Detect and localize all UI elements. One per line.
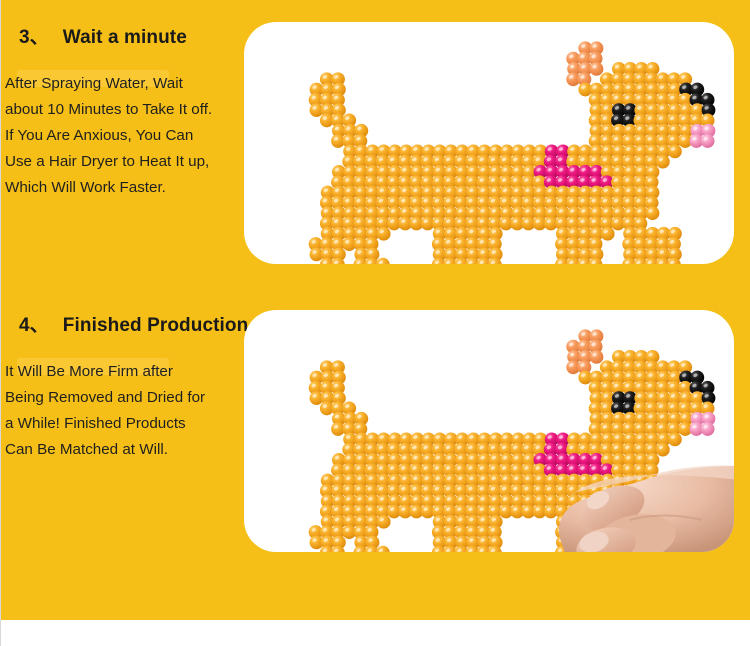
bead [376,258,390,264]
step-3-line-3: If You Are Anxious, You Can [5,123,243,149]
step-4-heading: 4、 Finished Production [1,310,241,337]
hand-svg [510,426,734,552]
bead [377,515,391,529]
step-3-text-block: 3、 Wait a minute After Spraying Water, W… [1,22,241,201]
bead [646,206,660,220]
hand-holding-craft [510,426,734,552]
step-3-line-4: Use a Hair Dryer to Heat It up, [5,149,243,175]
bead [601,227,615,241]
bead [701,134,715,148]
beaded-dog-craft-image [244,22,734,264]
step-3-line-5: Which Will Work Faster. [5,175,243,201]
step-4-image-card [244,310,734,552]
step-3-line-1: After Spraying Water, Wait [5,71,243,97]
step-4-body: It Will Be More Firm after Being Removed… [1,359,243,463]
beaded-dog-svg [244,22,734,264]
step-4-line-1: It Will Be More Firm after [5,359,243,385]
bead [376,546,390,552]
step-4-text-block: 4、 Finished Production It Will Be More F… [1,310,241,463]
step-3-number: 3、 [1,22,49,49]
bead [590,62,604,76]
page-root: 3、 Wait a minute After Spraying Water, W… [0,0,750,646]
step-3-line-2: about 10 Minutes to Take It off. [5,97,243,123]
step-4-line-2: Being Removed and Dried for [5,385,243,411]
step-4-line-4: Can Be Matched at Will. [5,437,243,463]
step-3-image-card [244,22,734,264]
step-4-line-3: a While! Finished Products [5,411,243,437]
step-3-body: After Spraying Water, Wait about 10 Minu… [1,71,243,201]
bead [590,350,604,364]
step-4-number: 4、 [1,310,49,337]
step-3-title: Wait a minute [49,27,187,49]
bead [668,144,682,158]
step-4-title: Finished Production [49,315,249,337]
bead [377,227,391,241]
bead [656,155,670,169]
bottom-white-strip [1,620,750,646]
step-3-heading: 3、 Wait a minute [1,22,241,49]
